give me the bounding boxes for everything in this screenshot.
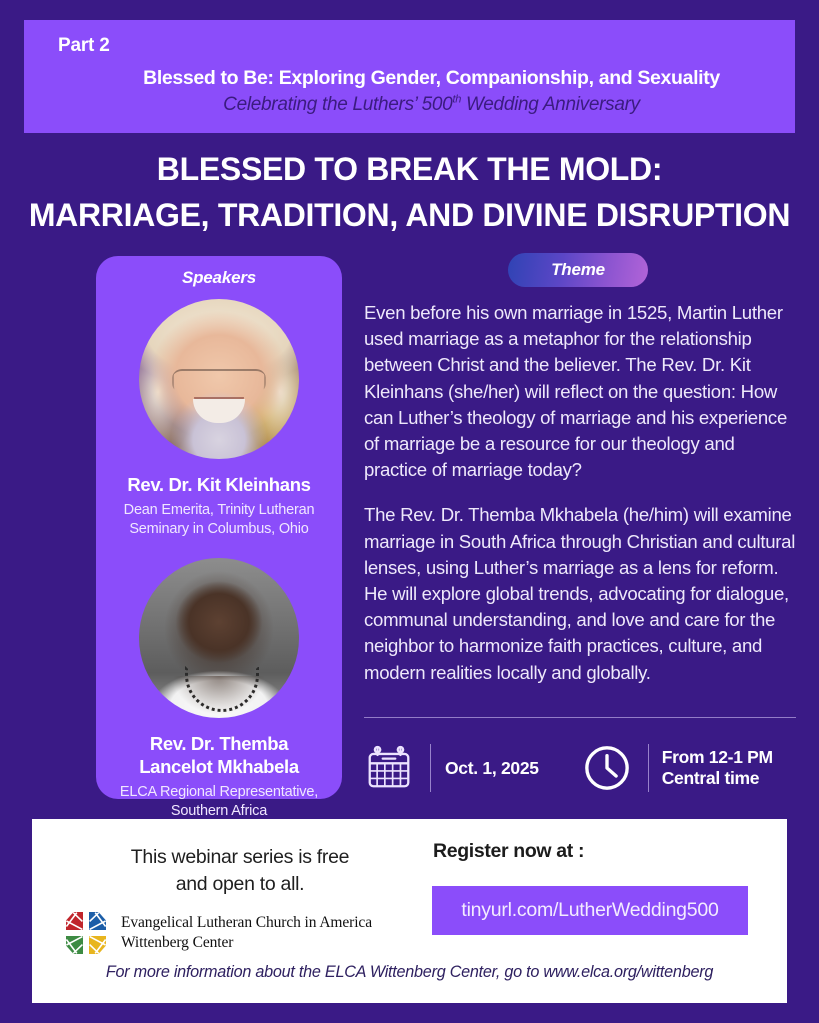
series-title: Blessed to Be: Exploring Gender, Compani…: [58, 66, 765, 90]
event-details-row: Oct. 1, 2025 From 12-1 PM Central time: [364, 735, 804, 801]
elca-wordmark-line-1: Evangelical Lutheran Church in America: [121, 913, 372, 933]
subtitle-pre: Celebrating the Luthers’ 500: [223, 94, 452, 115]
calendar-icon: [364, 743, 414, 793]
theme-badge-label: Theme: [551, 260, 605, 280]
register-heading: Register now at :: [433, 840, 584, 863]
speaker-name-2: Rev. Dr. Themba Lancelot Mkhabela: [110, 732, 328, 778]
event-time: From 12-1 PM Central time: [662, 747, 773, 789]
date-divider: [430, 744, 431, 792]
theme-paragraph-1: Even before his own marriage in 1525, Ma…: [364, 300, 796, 483]
register-url-button[interactable]: tinyurl.com/LutherWedding500: [432, 886, 748, 935]
event-date-item: Oct. 1, 2025: [364, 743, 539, 793]
speaker-name-1: Rev. Dr. Kit Kleinhans: [110, 473, 328, 496]
elca-globe-cross-logo-icon: [60, 907, 112, 959]
speaker-role-1: Dean Emerita, Trinity Lutheran Seminary …: [110, 501, 328, 539]
theme-badge: Theme: [508, 253, 648, 287]
elca-wordmark-line-2: Wittenberg Center: [121, 933, 372, 953]
speakers-card: Speakers Rev. Dr. Kit Kleinhans Dean Eme…: [96, 256, 342, 799]
section-divider: [364, 717, 796, 718]
page-title-line-1: Blessed to Break the Mold:: [24, 146, 795, 192]
speaker-role-2: ELCA Regional Representative, Southern A…: [110, 783, 328, 821]
series-subtitle: Celebrating the Luthers’ 500th Wedding A…: [58, 93, 765, 117]
page-title: Blessed to Break the Mold: Marriage, Tra…: [24, 146, 795, 238]
webinar-promo-poster: Part 2 Blessed to Be: Exploring Gender, …: [0, 0, 819, 1023]
avatar-kit-kleinhans: [139, 299, 299, 459]
event-time-item: From 12-1 PM Central time: [581, 742, 773, 794]
more-info-text: For more information about the ELCA Witt…: [32, 963, 787, 982]
elca-wordmark: Evangelical Lutheran Church in America W…: [121, 913, 372, 953]
subtitle-post: Wedding Anniversary: [461, 94, 640, 115]
time-divider: [648, 744, 649, 792]
page-title-line-2: Marriage, Tradition, and Divine Disrupti…: [24, 192, 795, 238]
avatar-themba-mkhabela: [139, 558, 299, 718]
elca-logo-row: Evangelical Lutheran Church in America W…: [60, 907, 372, 959]
clock-icon: [581, 742, 633, 794]
event-date: Oct. 1, 2025: [445, 758, 539, 779]
theme-paragraph-2: The Rev. Dr. Themba Mkhabela (he/him) wi…: [364, 502, 796, 685]
part-label: Part 2: [58, 34, 765, 58]
free-notice: This webinar series is free and open to …: [70, 844, 410, 898]
series-banner: Part 2 Blessed to Be: Exploring Gender, …: [24, 20, 795, 133]
subtitle-ordinal-suffix: th: [452, 94, 461, 106]
speaker-block-2: Rev. Dr. Themba Lancelot Mkhabela ELCA R…: [110, 558, 328, 821]
theme-description: Even before his own marriage in 1525, Ma…: [364, 300, 796, 686]
speakers-heading: Speakers: [110, 268, 328, 288]
